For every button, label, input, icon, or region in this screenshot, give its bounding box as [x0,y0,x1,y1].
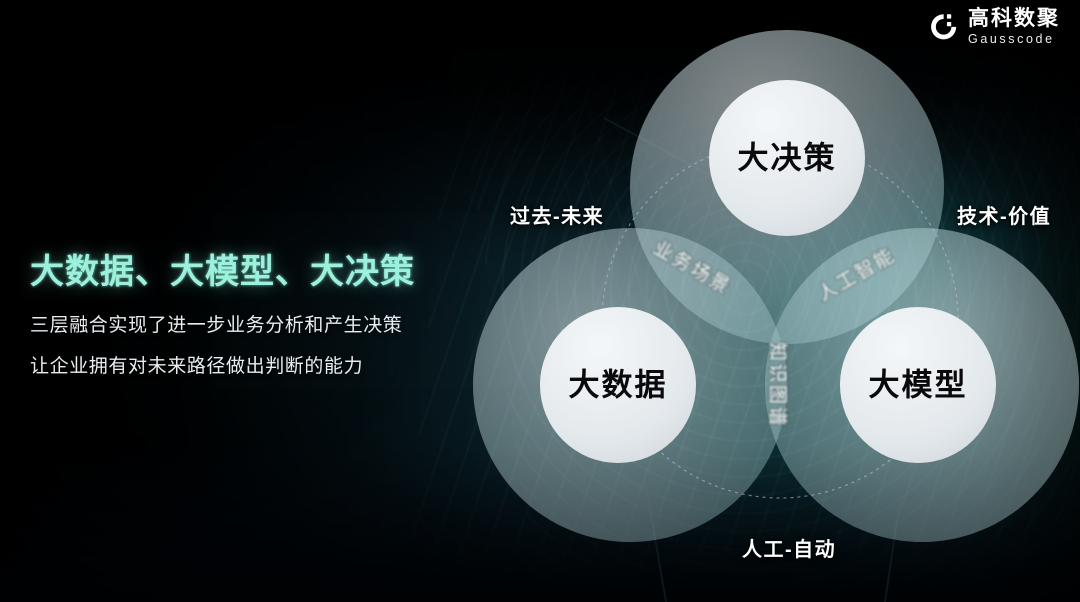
axis-label-tech-value: 技术-价值 [957,200,1051,229]
core-label-decision: 大决策 [738,141,837,176]
axis-label-past-future: 过去-未来 [510,200,604,229]
core-label-model: 大模型 [869,368,968,403]
axis-label-manual-auto: 人工-自动 [742,533,836,562]
overlap-label-knowledge-graph: 知识图谱 [767,342,789,428]
subtitle-line-1: 三层融合实现了进一步业务分析和产生决策 [30,311,460,340]
venn-diagram: 大决策 大数据 大模型 业务场景 人工智能 知识图谱 过去-未来 技术-价值 人… [470,10,1080,602]
left-text-block: 大数据、大模型、大决策 三层融合实现了进一步业务分析和产生决策 让企业拥有对未来… [30,252,460,394]
core-label-bigdata: 大数据 [569,368,668,403]
slide-canvas: 高科数聚 Gausscode 大数据、大模型、大决策 三层融合实现了进一步业务分… [0,0,1080,602]
subtitle-line-2: 让企业拥有对未来路径做出判断的能力 [30,352,460,381]
page-title: 大数据、大模型、大决策 [30,252,460,293]
